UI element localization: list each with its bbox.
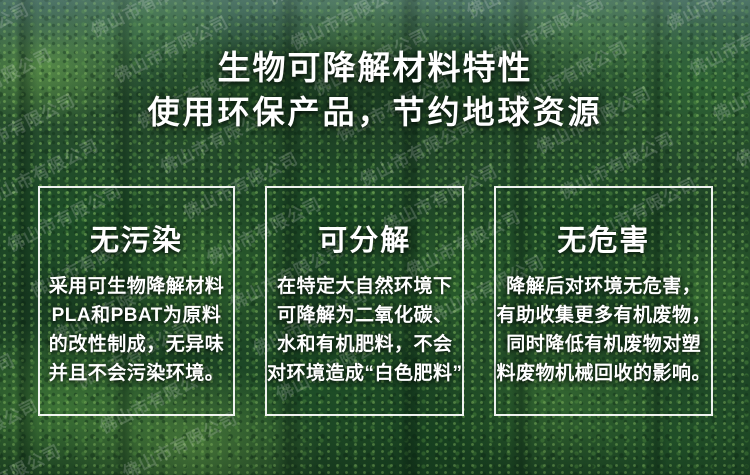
feature-card-harmless[interactable]: 无危害降解后对环境无危害，有助收集更多有机废物，同时降低有机废物对塑料废物机械回… bbox=[494, 186, 713, 416]
watermark-text: 佛山市有限公司 bbox=[661, 0, 750, 35]
watermark-text: 佛山市有限公司 bbox=[0, 437, 65, 475]
feature-card-body-line: 的改性制成，无异味 bbox=[49, 330, 225, 359]
feature-card-body-line: 采用可生物降解材料 bbox=[49, 272, 225, 301]
headline-block: 生物可降解材料特性 使用环保产品，节约地球资源 bbox=[0, 46, 750, 134]
feature-card-body-line: 对环境造成“白色肥料” bbox=[267, 359, 463, 388]
feature-card-degradable[interactable]: 可分解在特定大自然环境下可降解为二氧化碳、水和有机肥料，不会对环境造成“白色肥料… bbox=[265, 186, 465, 416]
feature-card-body: 降解后对环境无危害，有助收集更多有机废物，同时降低有机废物对塑料废物机械回收的影… bbox=[496, 272, 711, 388]
watermark-text: 佛山市有限公司 bbox=[462, 0, 586, 22]
feature-card-body-line: 有助收集更多有机废物， bbox=[496, 301, 711, 330]
feature-card-body-line: 在特定大自然环境下 bbox=[267, 272, 463, 301]
feature-card-body-line: 可降解为二氧化碳、 bbox=[267, 301, 463, 330]
feature-card-body-line: 降解后对环境无危害， bbox=[496, 272, 711, 301]
poster-banner: 佛山市有限公司佛山市有限公司佛山市有限公司佛山市有限公司佛山市有限公司佛山市有限… bbox=[0, 0, 750, 475]
watermark-text: 佛山市有限公司 bbox=[262, 0, 386, 9]
watermark-text: 佛山市有限公司 bbox=[0, 391, 42, 470]
feature-card-body-line: 同时降低有机废物对塑 bbox=[496, 330, 711, 359]
feature-card-body-line: 料废物机械回收的影响。 bbox=[496, 359, 711, 388]
feature-card-title: 可分解 bbox=[318, 224, 411, 258]
feature-card-no-pollution[interactable]: 无污染采用可生物降解材料PLA和PBAT为原料的改性制成，无异味并且不会污染环境… bbox=[38, 186, 235, 416]
feature-card-title: 无危害 bbox=[557, 224, 650, 258]
watermark-text: 佛山市有限公司 bbox=[0, 346, 18, 425]
watermark-text: 佛山市有限公司 bbox=[0, 0, 10, 29]
feature-card-list: 无污染采用可生物降解材料PLA和PBAT为原料的改性制成，无异味并且不会污染环境… bbox=[38, 186, 713, 416]
feature-card-title: 无污染 bbox=[90, 224, 183, 258]
feature-card-body: 在特定大自然环境下可降解为二氧化碳、水和有机肥料，不会对环境造成“白色肥料” bbox=[267, 272, 463, 388]
watermark-text: 佛山市有限公司 bbox=[86, 0, 210, 42]
headline-line-1: 生物可降解材料特性 bbox=[0, 46, 750, 90]
headline-line-2: 使用环保产品，节约地球资源 bbox=[0, 90, 750, 134]
feature-card-body-line: 水和有机肥料，不会 bbox=[267, 330, 463, 359]
feature-card-body: 采用可生物降解材料PLA和PBAT为原料的改性制成，无异味并且不会污染环境。 bbox=[49, 272, 225, 388]
feature-card-body-line: 并且不会污染环境。 bbox=[49, 359, 225, 388]
feature-card-body-line: PLA和PBAT为原料 bbox=[49, 301, 225, 330]
